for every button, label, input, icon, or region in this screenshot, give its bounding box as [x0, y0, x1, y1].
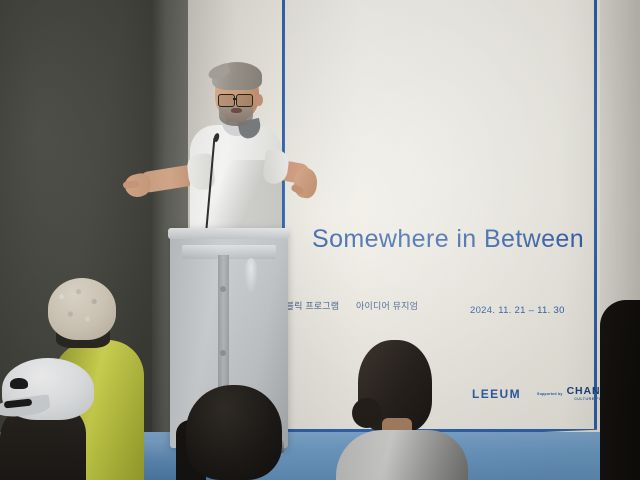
slide-title: Somewhere in Between	[312, 225, 584, 254]
sponsor-prefix-label: Supported by	[537, 392, 563, 396]
cap-viewer-cap-logo	[10, 378, 28, 389]
lectern-top-surface	[168, 228, 290, 239]
ponytail-viewer-bun	[352, 398, 382, 428]
center-viewer-head	[186, 385, 282, 480]
speaker-ear	[255, 94, 263, 106]
lectern-shelf	[182, 245, 276, 259]
lectern-highlight	[244, 258, 258, 294]
photo-scene: Somewhere in Between 용 퍼블릭 프로그램 아이디어 뮤지엄…	[0, 0, 640, 480]
leeum-logo: LEEUM	[472, 387, 521, 401]
lectern-bolt-upper	[220, 286, 226, 292]
glasses-right-lens-icon	[236, 94, 253, 107]
lectern-bolt-lower	[220, 350, 226, 356]
slide-date-range: 2024. 11. 21 – 11. 30	[470, 305, 565, 316]
ponytail-viewer-body-shading	[336, 430, 468, 480]
beanie-viewer-hat-texture	[48, 278, 116, 340]
slide-korean-subtitle-right: 아이디어 뮤지엄	[356, 299, 418, 312]
slide-logo-row: LEEUM Supported by CHANEL CULTURE FUND	[472, 386, 616, 401]
speaker-mouth	[231, 108, 242, 113]
glasses-left-lens-icon	[218, 94, 235, 107]
projection-screen	[284, 0, 640, 440]
glasses-bridge-icon	[233, 98, 237, 100]
audience-far-right-silhouette	[600, 300, 640, 480]
slide-rule-right	[594, 0, 597, 432]
